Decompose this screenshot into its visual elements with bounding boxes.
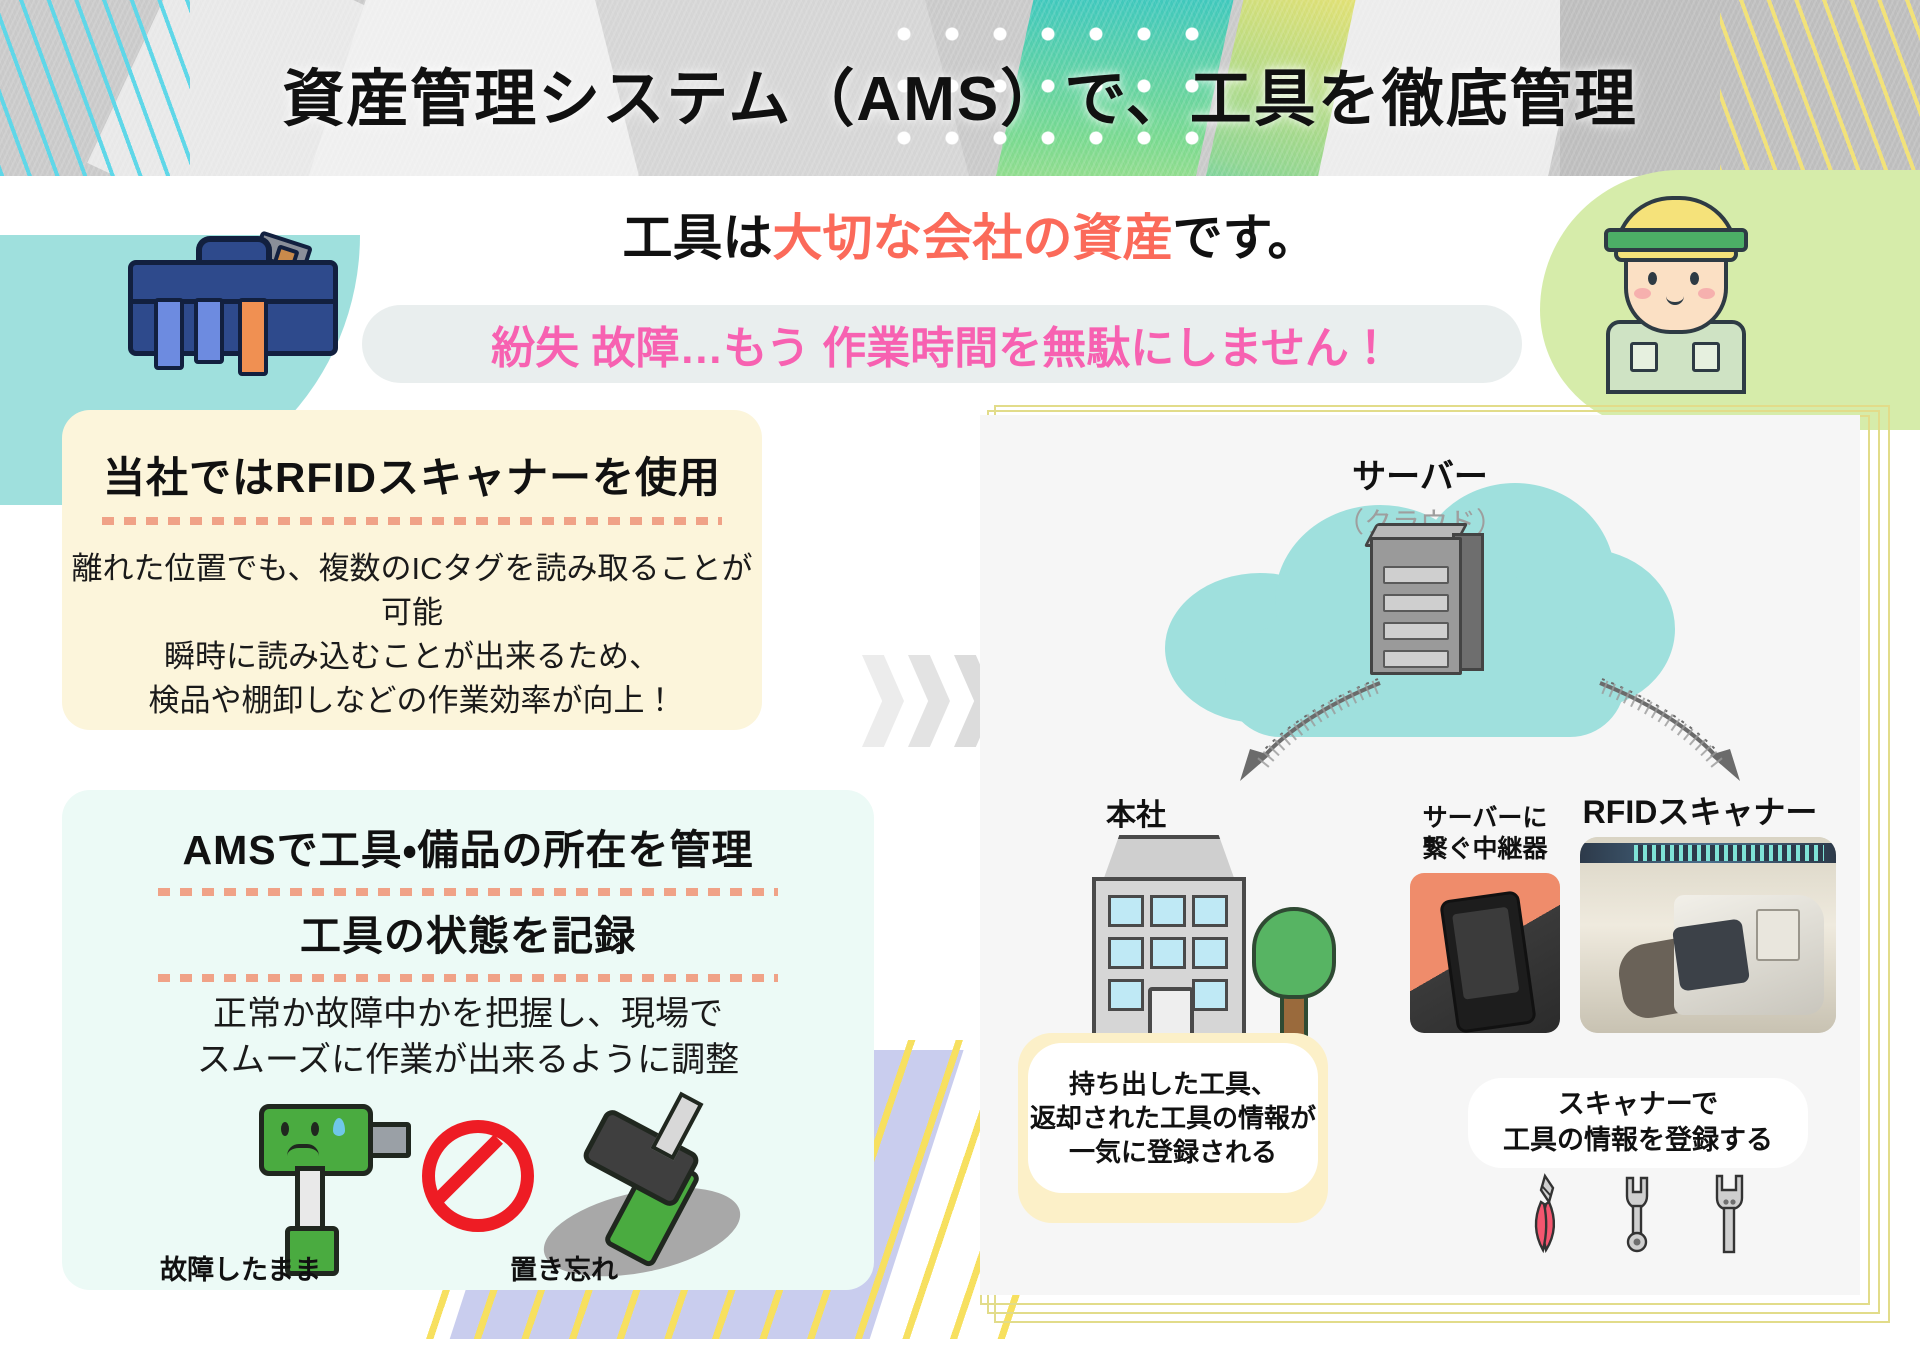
subtitle-suffix: です。 bbox=[1173, 210, 1318, 266]
drill-eye-left bbox=[281, 1122, 289, 1136]
prohibition-icon bbox=[422, 1120, 534, 1232]
building-window-7 bbox=[1108, 979, 1144, 1011]
rfid-body-line-1: 離れた位置でも、複数のICタグを読み取ることが可能 bbox=[62, 547, 762, 635]
hq-callout: 持ち出した工具、 返却された工具の情報が 一気に登録される bbox=[1028, 1043, 1318, 1193]
rfid-card: 当社ではRFIDスキャナーを使用 離れた位置でも、複数のICタグを読み取ることが… bbox=[62, 410, 762, 730]
orange-arrow-icon bbox=[1398, 1022, 1490, 1082]
chevron-right-icon-1 bbox=[862, 655, 904, 747]
headquarters-building-icon bbox=[1092, 835, 1242, 1035]
page-title: 資産管理システム（AMS）で、工具を徹底管理 bbox=[0, 48, 1920, 138]
worker-cheek-left bbox=[1634, 288, 1651, 299]
pain-point-text: 紛失 故障…もう 作業時間を無駄にしません！ bbox=[491, 312, 1393, 376]
tree-foliage bbox=[1252, 907, 1336, 999]
relay-device-photo bbox=[1410, 873, 1560, 1033]
bottom-white-strip bbox=[0, 1339, 1920, 1357]
scanner-callout-line-1: スキャナーで bbox=[1503, 1087, 1773, 1123]
data-flow-arrow-right-icon bbox=[1580, 677, 1750, 787]
building-window-6 bbox=[1192, 937, 1228, 969]
pliers-icon bbox=[1522, 1172, 1568, 1256]
relay-device-screen bbox=[1452, 907, 1519, 1000]
server-slot-4 bbox=[1383, 650, 1449, 668]
rfid-body-line-3: 検品や棚卸しなどの作業効率が向上！ bbox=[62, 679, 762, 723]
scanner-callout: スキャナーで 工具の情報を登録する bbox=[1468, 1078, 1808, 1168]
worker-avatar-icon bbox=[1590, 196, 1770, 386]
building-window-1 bbox=[1108, 895, 1144, 927]
hq-callout-line-1: 持ち出した工具、 bbox=[1030, 1067, 1316, 1101]
rfid-scanner-photo bbox=[1580, 837, 1836, 1033]
hq-callout-line-3: 一気に登録される bbox=[1030, 1135, 1316, 1169]
scanner-display bbox=[1756, 909, 1800, 961]
worker-cheek-right bbox=[1698, 288, 1715, 299]
drill2-bit bbox=[650, 1092, 703, 1161]
drill-tear-icon bbox=[333, 1118, 345, 1136]
wrench-icon bbox=[1614, 1172, 1660, 1256]
screwdriver-blue-2 bbox=[194, 298, 224, 364]
broken-drill-label: 故障したまま bbox=[160, 1248, 321, 1287]
relay-device-body bbox=[1439, 890, 1537, 1033]
hq-callout-line-2: 返却された工具の情報が bbox=[1030, 1101, 1316, 1135]
rfid-card-divider bbox=[102, 517, 722, 525]
rfid-card-body: 離れた位置でも、複数のICタグを読み取ることが可能 瞬時に読み込むことが出来るた… bbox=[62, 547, 762, 723]
screwdriver-orange bbox=[238, 298, 268, 376]
server-slot-2 bbox=[1383, 594, 1449, 612]
left-behind-drill-label: 置き忘れ bbox=[510, 1248, 618, 1287]
ams-body-line-2: スムーズに作業が出来るように調整 bbox=[62, 1038, 874, 1084]
infographic-root: 資産管理システム（AMS）で、工具を徹底管理 工具は大切な会社の資産です。 紛失… bbox=[0, 0, 1920, 1357]
worker-helmet-band bbox=[1604, 228, 1748, 252]
scanner-label: RFIDスキャナー bbox=[1540, 787, 1860, 833]
ams-card-divider-2 bbox=[158, 974, 778, 982]
server-label: サーバー bbox=[980, 449, 1860, 498]
rfid-body-line-2: 瞬時に読み込むことが出来るため、 bbox=[62, 635, 762, 679]
ams-body-line-1: 正常か故障中かを把握し、現場で bbox=[62, 992, 874, 1038]
scanner-callout-line-2: 工具の情報を登録する bbox=[1503, 1123, 1773, 1159]
relay-label-line-2: 繋ぐ中継器 bbox=[1390, 834, 1580, 865]
ams-card-title-2: 工具の状態を記録 bbox=[62, 902, 874, 962]
data-flow-arrow-left-icon bbox=[1230, 677, 1400, 787]
tool-icon-row bbox=[1492, 1172, 1782, 1262]
hq-label: 本社 bbox=[1106, 790, 1166, 834]
worker-eye-left bbox=[1648, 272, 1657, 285]
tree-icon bbox=[1248, 907, 1332, 1037]
server-front bbox=[1370, 537, 1462, 675]
worker-pocket-right bbox=[1692, 342, 1720, 372]
ams-card-body: 正常か故障中かを把握し、現場で スムーズに作業が出来るように調整 bbox=[62, 992, 874, 1084]
toolbox-icon bbox=[128, 232, 338, 362]
building-window-4 bbox=[1108, 937, 1144, 969]
subtitle-highlight: 大切な会社の資産 bbox=[773, 210, 1173, 266]
building-window-2 bbox=[1150, 895, 1186, 927]
pain-point-banner: 紛失 故障…もう 作業時間を無駄にしません！ bbox=[362, 305, 1522, 383]
ams-card-divider-1 bbox=[158, 888, 778, 896]
drill-eye-right bbox=[311, 1122, 319, 1136]
subtitle-prefix: 工具は bbox=[623, 210, 773, 266]
building-window-5 bbox=[1150, 937, 1186, 969]
worker-pocket-left bbox=[1630, 342, 1658, 372]
server-rack-icon bbox=[1370, 523, 1480, 683]
server-slot-1 bbox=[1383, 566, 1449, 584]
header-banner: 資産管理システム（AMS）で、工具を徹底管理 bbox=[0, 0, 1920, 176]
rfid-card-title: 当社ではRFIDスキャナーを使用 bbox=[62, 444, 762, 505]
building-window-8 bbox=[1192, 979, 1228, 1011]
adjustable-wrench-icon bbox=[1706, 1172, 1752, 1256]
ams-card-title-1: AMSで工具・備品の所在を管理 bbox=[62, 816, 874, 876]
server-slot-3 bbox=[1383, 622, 1449, 640]
chevron-right-icon-2 bbox=[908, 655, 950, 747]
screwdriver-blue-1 bbox=[154, 298, 184, 370]
ams-card: AMSで工具・備品の所在を管理 工具の状態を記録 正常か故障中かを把握し、現場で… bbox=[62, 790, 874, 1290]
building-window-3 bbox=[1192, 895, 1228, 927]
subtitle: 工具は大切な会社の資産です。 bbox=[540, 198, 1400, 270]
drill-mouth bbox=[287, 1144, 319, 1158]
scanner-photo-leds bbox=[1634, 845, 1824, 861]
scanner-grip bbox=[1672, 918, 1750, 991]
worker-eye-right bbox=[1690, 272, 1699, 285]
